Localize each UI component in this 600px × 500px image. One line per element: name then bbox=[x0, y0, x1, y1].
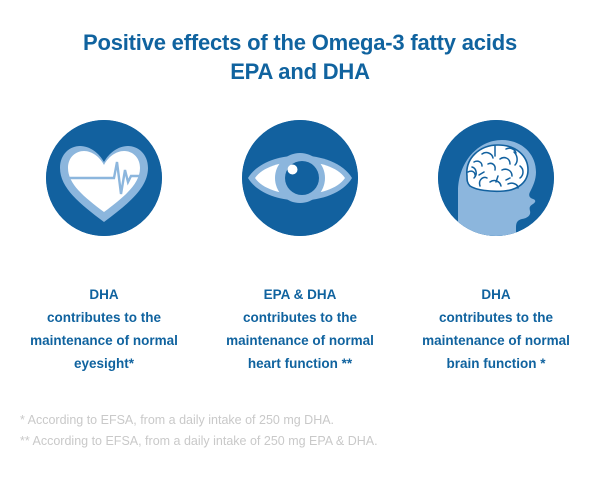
title-line-2: EPA and DHA bbox=[0, 57, 600, 86]
icon-row bbox=[0, 120, 600, 236]
caption-2-line-1: EPA & DHA bbox=[202, 283, 398, 306]
brain-head-icon bbox=[438, 120, 554, 236]
page-title: Positive effects of the Omega-3 fatty ac… bbox=[0, 28, 600, 86]
column-3 bbox=[398, 120, 594, 236]
caption-row: DHA contributes to the maintenance of no… bbox=[0, 283, 600, 375]
heart-ecg-icon bbox=[46, 120, 162, 236]
caption-3-line-1: DHA bbox=[398, 283, 594, 306]
eye-icon bbox=[242, 120, 358, 236]
column-1 bbox=[6, 120, 202, 236]
caption-3-line-2: contributes to the bbox=[398, 306, 594, 329]
caption-2-line-3: maintenance of normal bbox=[202, 329, 398, 352]
infographic-root: Positive effects of the Omega-3 fatty ac… bbox=[0, 0, 600, 500]
caption-3-line-3: maintenance of normal bbox=[398, 329, 594, 352]
footnotes: * According to EFSA, from a daily intake… bbox=[20, 410, 580, 452]
column-2 bbox=[202, 120, 398, 236]
caption-2-line-2: contributes to the bbox=[202, 306, 398, 329]
title-line-1: Positive effects of the Omega-3 fatty ac… bbox=[0, 28, 600, 57]
caption-1-line-3: maintenance of normal bbox=[6, 329, 202, 352]
caption-1-line-1: DHA bbox=[6, 283, 202, 306]
caption-3-line-4: brain function * bbox=[398, 352, 594, 375]
caption-1-line-4: eyesight* bbox=[6, 352, 202, 375]
caption-column-3: DHA contributes to the maintenance of no… bbox=[398, 283, 594, 375]
caption-column-2: EPA & DHA contributes to the maintenance… bbox=[202, 283, 398, 375]
caption-1-line-2: contributes to the bbox=[6, 306, 202, 329]
caption-2-line-4: heart function ** bbox=[202, 352, 398, 375]
caption-column-1: DHA contributes to the maintenance of no… bbox=[6, 283, 202, 375]
footnote-single-star: * According to EFSA, from a daily intake… bbox=[20, 410, 580, 431]
footnote-double-star: ** According to EFSA, from a daily intak… bbox=[20, 431, 580, 452]
